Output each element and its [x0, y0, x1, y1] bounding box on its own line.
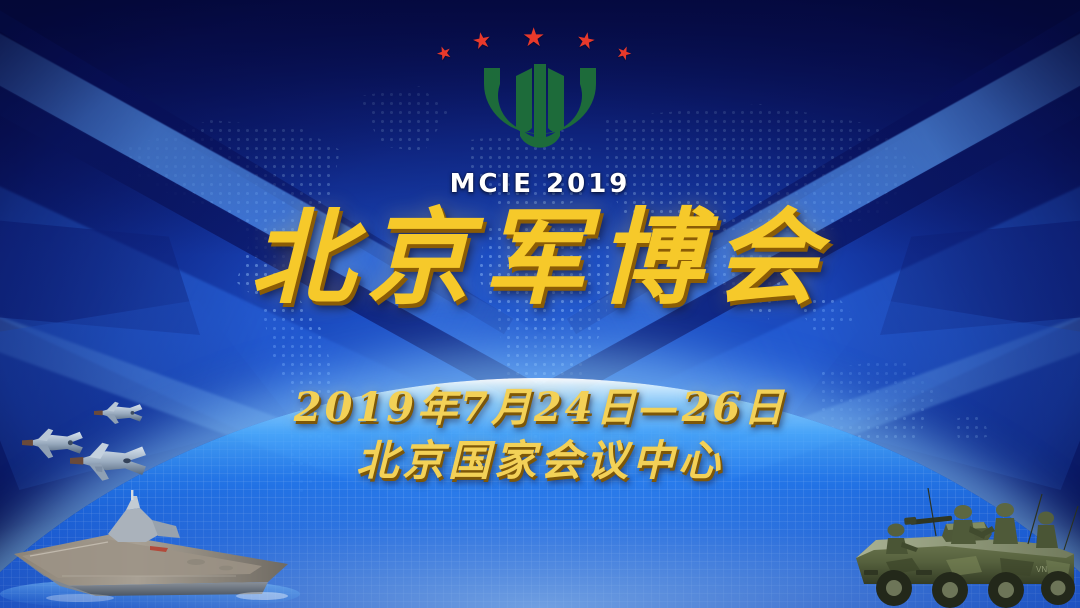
soldier-4 — [1036, 512, 1058, 549]
event-logo: ★ ★ ★ ★ ★ MCIE 2019 — [430, 22, 650, 199]
star-icon: ★ — [433, 42, 455, 65]
event-poster: VN ★ ★ ★ ★ ★ MCIE 2019 北京军博会 2019年7月24日—… — [0, 0, 1080, 608]
aircraft-carrier — [0, 490, 300, 608]
poster-title: 北京军博会 — [0, 206, 1080, 310]
armored-personnel-carrier: VN — [850, 488, 1080, 608]
svg-text:VN: VN — [1036, 565, 1047, 574]
logo-wordmark: MCIE 2019 — [430, 169, 650, 199]
star-icon: ★ — [574, 28, 598, 53]
star-icon: ★ — [522, 24, 545, 50]
event-venue: 北京国家会议中心 — [0, 440, 1080, 483]
event-date: 2019年7月24日—26日 — [0, 388, 1080, 429]
star-icon: ★ — [470, 28, 494, 53]
five-stars: ★ ★ ★ ★ ★ — [430, 22, 650, 62]
mcie-emblem-icon — [476, 58, 604, 162]
star-icon: ★ — [613, 42, 635, 65]
